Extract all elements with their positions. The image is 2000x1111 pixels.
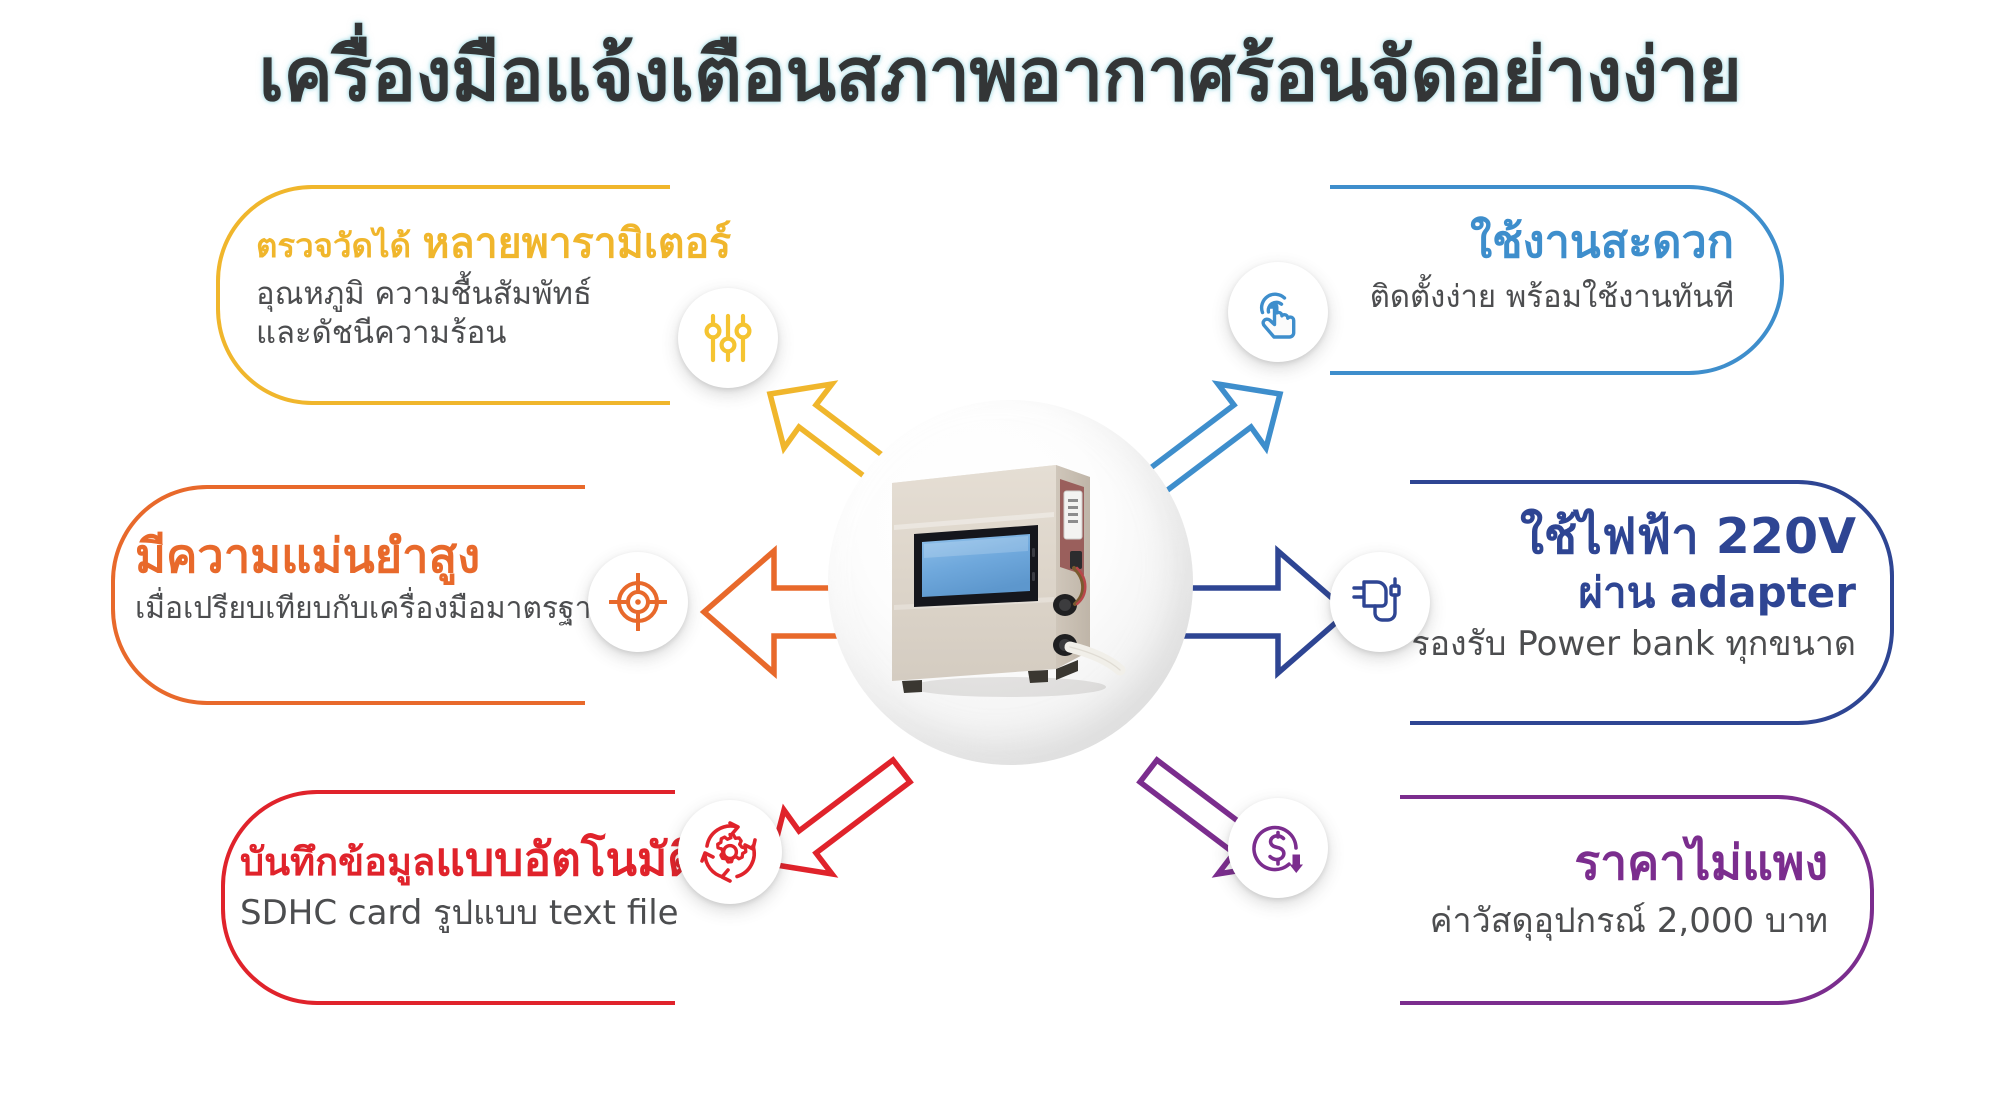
card-heading-high-accuracy: มีความแม่นยำสูง [135,529,585,584]
card-heading-main: หลายพารามิเตอร์ [423,219,732,267]
heat-alert-device-photo [878,455,1148,705]
power-adapter-icon-badge [1330,552,1430,652]
card-heading-lead: บันทึกข้อมูล [240,840,435,884]
feature-card-high-accuracy: มีความแม่นยำสูง เมื่อเปรียบเทียบกับเครื่… [95,485,585,705]
gear-refresh-icon-badge [678,800,782,904]
crosshair-target-icon-badge [588,552,688,652]
card-heading-main: มีความแม่นยำสูง [135,529,480,584]
touch-tap-icon [1250,284,1306,340]
feature-card-easy-to-use: ใช้งานสะดวก ติดตั้งง่าย พร้อมใช้งานทันที [1330,185,1800,375]
feature-card-low-price: ราคาไม่แพง ค่าวัสดุอุปกรณ์ 2,000 บาท [1400,795,1890,1005]
card-sub1-easy-to-use: ติดตั้งง่าย พร้อมใช้งานทันที [1330,278,1734,317]
card-heading-power-220v: ใช้ไฟฟ้า 220V [1410,508,1856,566]
card-sub1-low-price: ค่าวัสดุอุปกรณ์ 2,000 บาท [1400,900,1828,943]
page-title: เครื่องมือแจ้งเตือนสภาพอากาศร้อนจัดอย่าง… [0,34,2000,117]
card-heading-main: ราคาไม่แพง [1574,835,1828,891]
card-sub1-high-accuracy: เมื่อเปรียบเทียบกับเครื่องมือมาตรฐาน [135,590,585,628]
touch-tap-icon-badge [1228,262,1328,362]
feature-card-auto-logging: บันทึกข้อมูลแบบอัตโนมัติ SDHC card รูปแบ… [205,790,675,1005]
feature-card-power-220v: ใช้ไฟฟ้า 220V ผ่าน adapter รองรับ Power … [1410,480,1910,725]
dollar-down-arrow-icon [1249,819,1307,877]
card-sub2-power-220v: รองรับ Power bank ทุกขนาด [1410,623,1856,666]
card-sub1-multi-parameter: อุณหภูมิ ความชื้นสัมพัทธ์ [256,275,670,314]
card-heading-main: ใช้ไฟฟ้า 220V [1520,508,1856,565]
power-adapter-icon [1351,573,1409,631]
card-sub2-multi-parameter: และดัชนีความร้อน [256,314,670,353]
sliders-icon-badge [678,288,778,388]
gear-refresh-icon [699,821,761,883]
card-heading-lead: ตรวจวัดได้ [256,226,423,265]
crosshair-target-icon [609,573,667,631]
card-heading-main: แบบอัตโนมัติ [435,832,697,886]
card-sub1-power-220v: ผ่าน adapter [1410,568,1856,618]
feature-card-multi-parameter: ตรวจวัดได้ หลายพารามิเตอร์ อุณหภูมิ ความ… [200,185,670,405]
sliders-icon [702,312,754,364]
card-heading-auto-logging: บันทึกข้อมูลแบบอัตโนมัติ [240,832,675,886]
card-heading-low-price: ราคาไม่แพง [1400,835,1828,892]
infographic-canvas: เครื่องมือแจ้งเตือนสภาพอากาศร้อนจัดอย่าง… [0,0,2000,1111]
card-heading-multi-parameter: ตรวจวัดได้ หลายพารามิเตอร์ [256,219,670,267]
card-sub1-auto-logging: SDHC card รูปแบบ text file [240,892,675,935]
card-heading-main: ใช้งานสะดวก [1470,215,1734,268]
card-heading-easy-to-use: ใช้งานสะดวก [1330,215,1734,268]
dollar-down-arrow-icon-badge [1228,798,1328,898]
